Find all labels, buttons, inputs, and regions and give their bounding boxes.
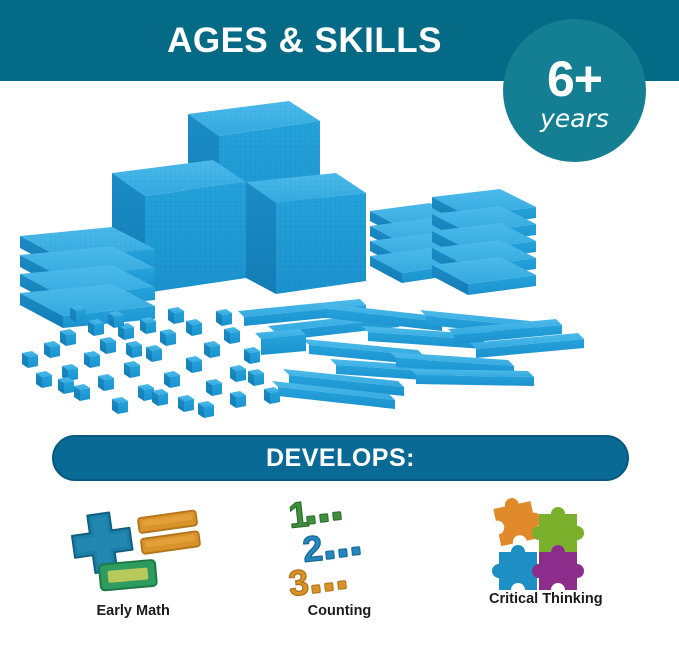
hundred-flats-stack-left xyxy=(20,227,155,328)
age-badge-number: 6+ xyxy=(547,56,602,104)
ten-rods-cluster xyxy=(238,299,584,409)
age-badge-unit: years xyxy=(540,106,609,131)
ages-and-skills-infographic: AGES & SKILLS 6+ years xyxy=(0,0,679,655)
develops-banner: DEVELOPS: xyxy=(52,435,629,481)
skill-critical-thinking: Critical Thinking xyxy=(443,492,649,652)
skill-label-counting: Counting xyxy=(308,602,372,620)
thousand-cube-right xyxy=(246,173,366,294)
age-badge: 6+ years xyxy=(503,19,646,162)
skill-label-early-math: Early Math xyxy=(96,602,169,620)
develops-label: DEVELOPS: xyxy=(266,444,415,473)
skill-early-math: Early Math xyxy=(30,492,236,652)
hundred-flats-stack-right xyxy=(370,189,536,295)
puzzle-pieces-icon xyxy=(461,492,631,602)
skills-row: Early Math 1 2 xyxy=(30,492,649,652)
skill-counting: 1 2 3 xyxy=(236,492,442,652)
math-symbols-icon xyxy=(48,492,218,602)
numbers-123-icon: 1 2 3 xyxy=(254,492,424,602)
